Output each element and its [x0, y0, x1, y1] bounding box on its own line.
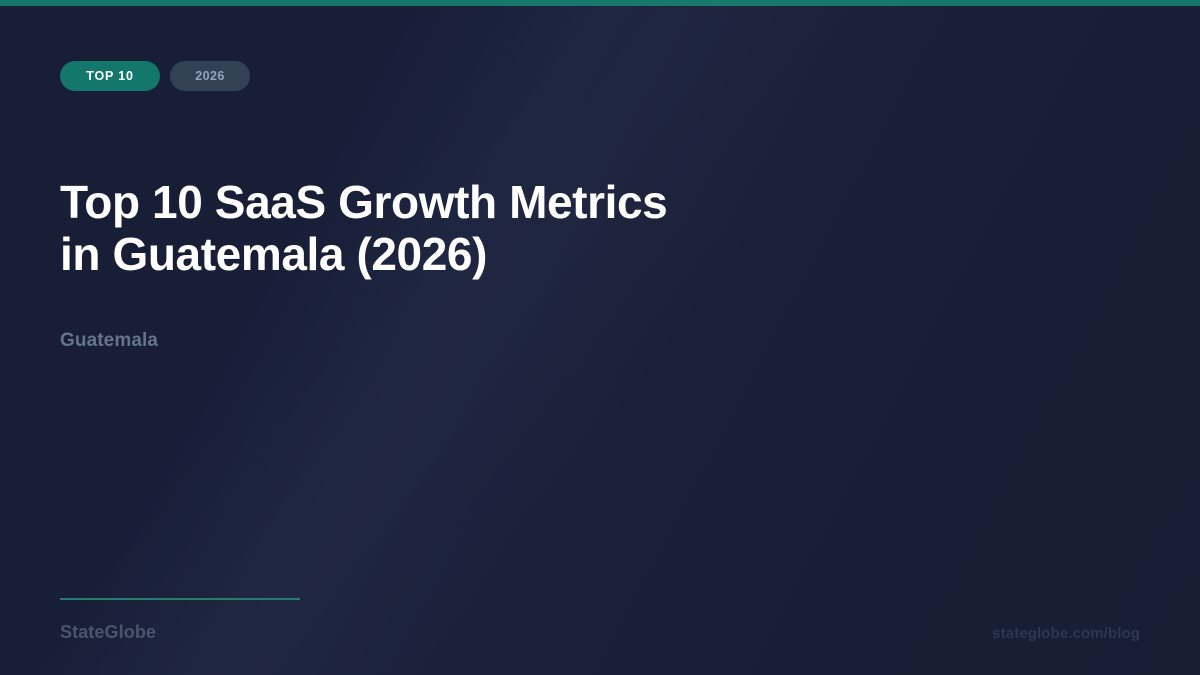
page-title-line-1: Top 10 SaaS Growth Metrics	[60, 176, 900, 228]
footer-brand: StateGlobe	[60, 622, 156, 643]
title-slide: TOP 10 2026 Top 10 SaaS Growth Metrics i…	[0, 0, 1200, 675]
page-subtitle: Guatemala	[60, 330, 158, 352]
badge-row: TOP 10 2026	[60, 61, 250, 91]
background-sheen	[0, 0, 1200, 675]
badge-top-10[interactable]: TOP 10	[60, 61, 160, 91]
badge-year[interactable]: 2026	[170, 61, 250, 91]
footer-divider	[60, 598, 300, 600]
page-title: Top 10 SaaS Growth Metrics in Guatemala …	[60, 176, 900, 280]
page-title-line-2: in Guatemala (2026)	[60, 228, 900, 280]
footer-url[interactable]: stateglobe.com/blog	[992, 625, 1140, 642]
top-accent-bar	[0, 0, 1200, 6]
